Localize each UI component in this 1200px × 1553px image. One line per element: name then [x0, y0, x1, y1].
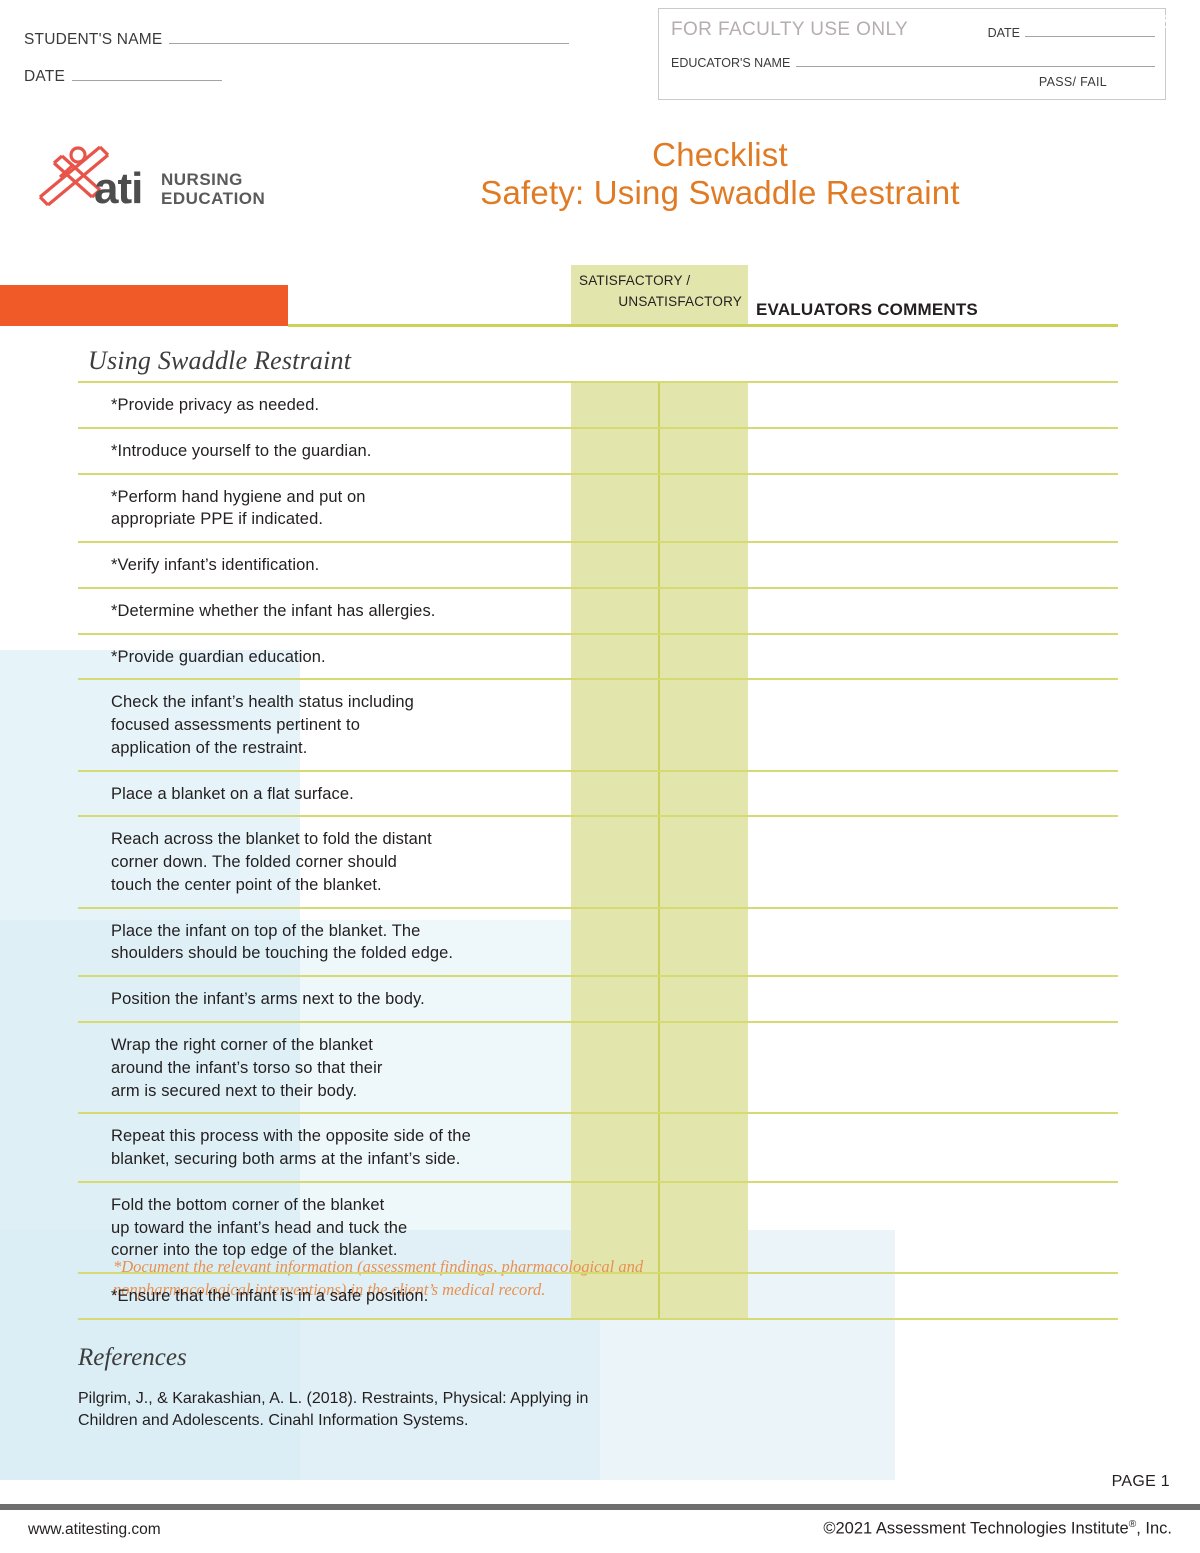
footer-copyright: ©2021 Assessment Technologies Institute®…: [823, 1519, 1172, 1539]
references-heading: References: [78, 1344, 187, 1372]
evaluators-comments-header: EVALUATORS COMMENTS: [756, 300, 978, 320]
satisfactory-column-header: SATISFACTORY / UNSATISFACTORY: [571, 265, 748, 325]
page-number: PAGE 1: [1112, 1473, 1170, 1491]
checklist-step-text: Fold the bottom corner of the blanket up…: [78, 1183, 1118, 1272]
checklist-step-text: Position the infant’s arms next to the b…: [78, 977, 1118, 1021]
table-row: *Introduce yourself to the guardian.: [78, 429, 1118, 475]
table-row: *Determine whether the infant has allerg…: [78, 589, 1118, 635]
footer-website[interactable]: www.atitesting.com: [28, 1521, 161, 1539]
page-title-line-1: Checklist: [300, 136, 1140, 174]
table-row: Place the infant on top of the blanket. …: [78, 909, 1118, 978]
svg-text:NURSING: NURSING: [161, 170, 243, 189]
table-row: Repeat this process with the opposite si…: [78, 1114, 1118, 1183]
student-name-label: STUDENT'S NAME: [24, 31, 162, 49]
table-row: Wrap the right corner of the blanket aro…: [78, 1023, 1118, 1114]
educator-name-row: EDUCATOR'S NAME: [671, 55, 1155, 70]
logo-wordmark: ati: [94, 164, 142, 213]
svg-text:EDUCATION: EDUCATION: [161, 189, 265, 208]
checklist-step-text: *Provide privacy as needed.: [78, 383, 1118, 427]
table-row: Place a blanket on a flat surface.: [78, 772, 1118, 818]
svg-text:ati: ati: [94, 164, 142, 213]
checklist-step-text: Wrap the right corner of the blanket aro…: [78, 1023, 1118, 1112]
table-row: Fold the bottom corner of the blanket up…: [78, 1183, 1118, 1274]
table-row: *Provide guardian education.: [78, 635, 1118, 681]
table-row: Check the infant’s health status includi…: [78, 680, 1118, 771]
section-heading: Using Swaddle Restraint: [88, 346, 351, 376]
checklist-step-text: Place the infant on top of the blanket. …: [78, 909, 1118, 976]
checklist-step-text: Repeat this process with the opposite si…: [78, 1114, 1118, 1181]
satisfactory-column-header-text: SATISFACTORY / UNSATISFACTORY: [571, 271, 748, 313]
checklist-step-text: *Perform hand hygiene and put on appropr…: [78, 475, 1118, 542]
copyright-text: ©2021 Assessment Technologies Institute: [823, 1520, 1128, 1538]
student-date-row: DATE: [24, 67, 624, 86]
logo-subtext: NURSING EDUCATION: [161, 170, 265, 208]
checklist-step-text: Check the infant’s health status includi…: [78, 680, 1118, 769]
student-identification-block: STUDENT'S NAME DATE: [24, 30, 624, 104]
checklist-step-text: Reach across the blanket to fold the dis…: [78, 817, 1118, 906]
checklist-table: *Provide privacy as needed.*Introduce yo…: [0, 381, 1200, 1320]
student-name-row: STUDENT'S NAME: [24, 30, 624, 49]
checklist-step-text: *Ensure that the infant is in a safe pos…: [78, 1274, 1118, 1318]
page-title: Checklist Safety: Using Swaddle Restrain…: [300, 136, 1140, 213]
table-row: *Provide privacy as needed.: [78, 381, 1118, 429]
faculty-date-label: DATE: [988, 26, 1020, 40]
checklist-step-text: *Verify infant’s identification.: [78, 543, 1118, 587]
educator-name-label: EDUCATOR'S NAME: [671, 56, 790, 70]
faculty-use-title: FOR FACULTY USE ONLY: [671, 19, 908, 41]
copyright-suffix: , Inc.: [1136, 1520, 1172, 1538]
checklist-rows: *Provide privacy as needed.*Introduce yo…: [0, 381, 1200, 1320]
checklist-step-text: *Provide guardian education.: [78, 635, 1118, 679]
table-header-rule: [288, 324, 1118, 327]
satisfactory-label-line-1: SATISFACTORY /: [579, 271, 742, 292]
step-by-step-label: Step by Step: [1045, 4, 1184, 35]
table-row: *Ensure that the infant is in a safe pos…: [78, 1274, 1118, 1320]
student-date-label: DATE: [24, 68, 65, 86]
table-row: Position the infant’s arms next to the b…: [78, 977, 1118, 1023]
pass-fail-label[interactable]: PASS/ FAIL: [1039, 75, 1107, 89]
footer-divider: [0, 1504, 1200, 1510]
educator-name-input[interactable]: [796, 55, 1155, 67]
step-by-step-banner: [0, 285, 288, 326]
student-name-input[interactable]: [169, 30, 569, 44]
ati-nursing-education-logo: ati NURSING EDUCATION: [30, 135, 280, 215]
table-row: *Verify infant’s identification.: [78, 543, 1118, 589]
checklist-step-text: *Introduce yourself to the guardian.: [78, 429, 1118, 473]
logo-artwork: ati NURSING EDUCATION: [30, 135, 280, 215]
references-body: Pilgrim, J., & Karakashian, A. L. (2018)…: [78, 1388, 798, 1433]
checklist-step-text: Place a blanket on a flat surface.: [78, 772, 1118, 816]
table-row: Reach across the blanket to fold the dis…: [78, 817, 1118, 908]
checklist-step-text: *Determine whether the infant has allerg…: [78, 589, 1118, 633]
page-title-line-2: Safety: Using Swaddle Restraint: [300, 174, 1140, 212]
table-row: *Perform hand hygiene and put on appropr…: [78, 475, 1118, 544]
satisfactory-label-line-2: UNSATISFACTORY: [579, 292, 742, 313]
student-date-input[interactable]: [72, 67, 222, 81]
